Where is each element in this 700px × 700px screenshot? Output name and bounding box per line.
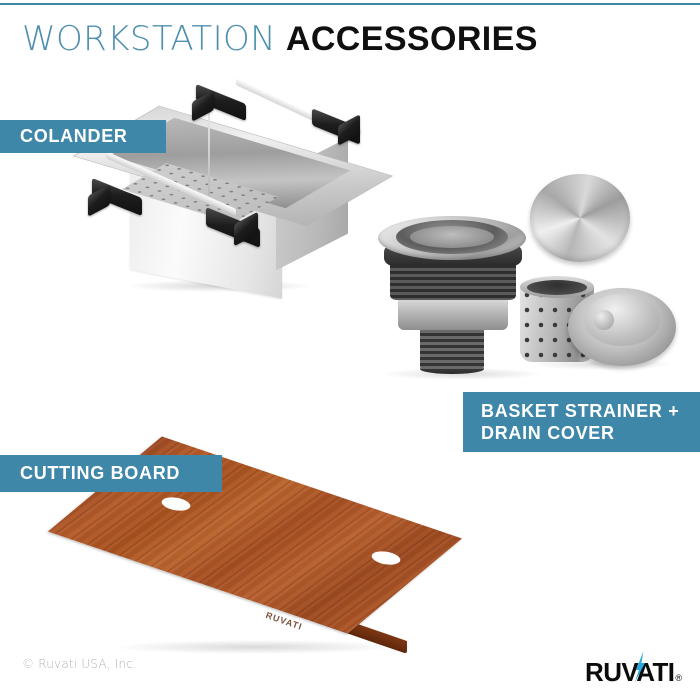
strainer-lid-knob: [594, 310, 614, 330]
label-banner-basket-strainer: BASKET STRAINER + DRAIN COVER: [463, 392, 700, 452]
drain-cover-disc: [530, 174, 630, 262]
label-banner-cutting-board: CUTTING BOARD: [0, 455, 222, 492]
page-title-bold: ACCESSORIES: [286, 20, 538, 58]
label-banner-colander: COLANDER: [0, 120, 166, 153]
colander-inner-corner-edge: [208, 110, 210, 196]
label-basket-line-2: DRAIN COVER: [481, 422, 615, 444]
ruvati-logo-wordmark: RUVATI: [585, 659, 674, 685]
strainer-basket-interior: [527, 280, 587, 295]
page-title-light: WORKSTATION: [22, 19, 276, 59]
drain-bowl-inner: [410, 226, 494, 248]
colander-product-image: [86, 84, 376, 304]
registered-trademark-icon: ®: [675, 673, 682, 683]
top-accent-rule: [0, 3, 700, 5]
drain-tailpiece-threads: [420, 324, 484, 370]
label-basket-line-1: BASKET STRAINER +: [481, 400, 679, 422]
copyright-notice: © Ruvati USA, Inc.: [22, 657, 137, 671]
page-title: WORKSTATION ACCESSORIES: [22, 22, 538, 56]
product-accessories-page: WORKSTATION ACCESSORIES COLANDER: [0, 0, 700, 700]
label-colander-text: COLANDER: [20, 126, 128, 147]
basket-strainer-product-image: [372, 162, 672, 387]
ruvati-logo: RUVATI ®: [585, 655, 682, 685]
cutting-board-shadow: [112, 640, 398, 654]
label-cutting-board-text: CUTTING BOARD: [20, 463, 180, 484]
